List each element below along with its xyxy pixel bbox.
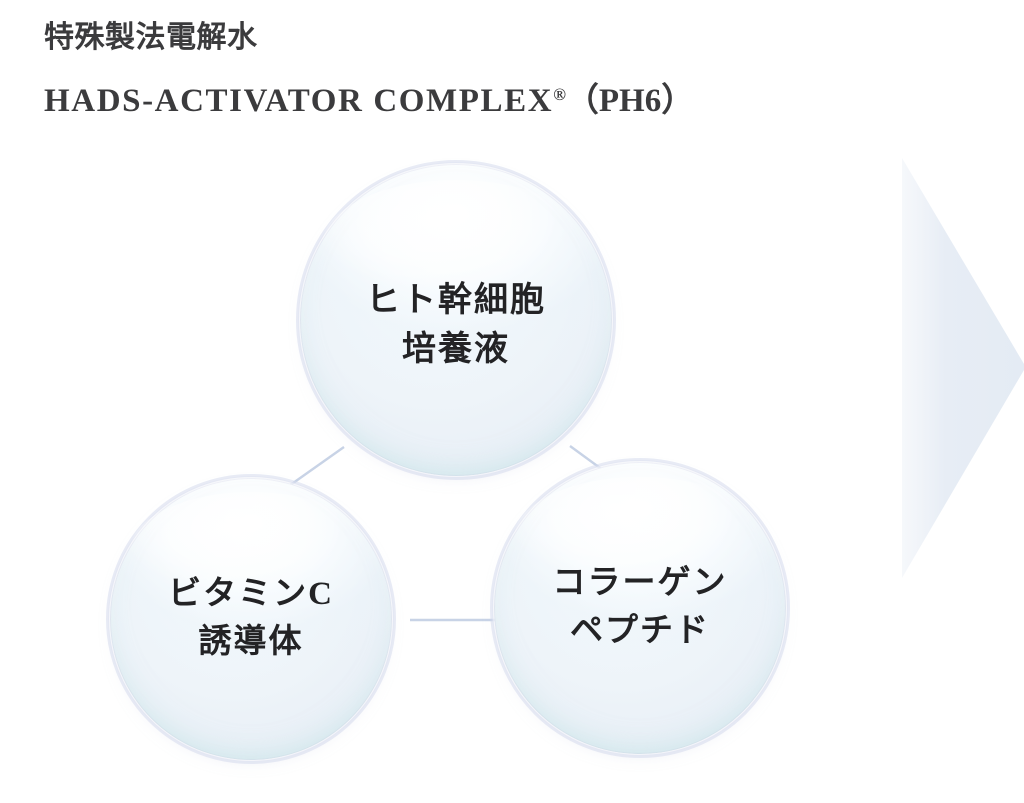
bubble-vitamin-c-derivative[interactable]: ビタミンC 誘導体 <box>110 478 392 760</box>
registered-trademark-icon: ® <box>553 85 566 104</box>
bubble-collagen-peptide[interactable]: コラーゲン ペプチド <box>494 462 786 754</box>
bubble-label-line-1: コラーゲン <box>553 560 728 608</box>
chevron-arrow-right-icon <box>896 158 1024 578</box>
bubble-label-line-1: ビタミンC <box>168 571 334 619</box>
bubble-label-line-2: ペプチド <box>553 608 728 656</box>
heading-title-suffix: （PH6） <box>566 83 694 119</box>
bubble-label-line-1: ヒト幹細胞 <box>366 276 546 325</box>
bubble-human-stem-cell-culture-fluid[interactable]: ヒト幹細胞 培養液 <box>300 164 612 476</box>
bubble-label-line-2: 誘導体 <box>168 619 334 667</box>
bubble-label: ビタミンC 誘導体 <box>168 571 334 667</box>
heading-subtitle: 特殊製法電解水 <box>44 18 904 58</box>
heading-block: 特殊製法電解水 HADS-ACTIVATOR COMPLEX®（PH6） <box>44 18 904 124</box>
bubble-label: コラーゲン ペプチド <box>553 560 728 656</box>
bubble-label-line-2: 培養液 <box>366 325 546 374</box>
bubble-label: ヒト幹細胞 培養液 <box>366 276 546 375</box>
heading-title-main: HADS-ACTIVATOR COMPLEX <box>44 83 553 119</box>
heading-title: HADS-ACTIVATOR COMPLEX®（PH6） <box>44 72 904 124</box>
slide-canvas: 特殊製法電解水 HADS-ACTIVATOR COMPLEX®（PH6） ヒト幹… <box>0 0 1024 803</box>
